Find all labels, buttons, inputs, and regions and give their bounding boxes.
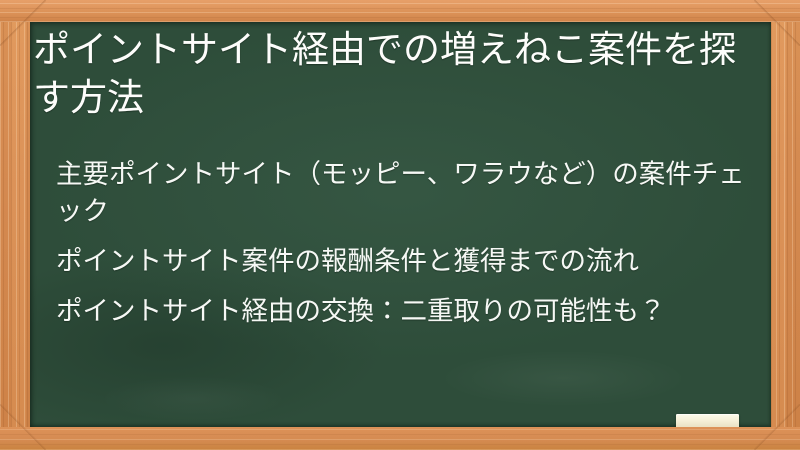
slide-title: ポイントサイト経由での増えねこ案件を探す方法 (33, 26, 749, 122)
frame-rail-bottom (0, 427, 800, 450)
frame-rail-top (0, 0, 800, 22)
list-item: 主要ポイントサイト（モッピー、ワラウなど）の案件チェック (56, 156, 746, 230)
list-item: ポイントサイト案件の報酬条件と獲得までの流れ (56, 243, 746, 280)
slide-content: ポイントサイト経由での増えねこ案件を探す方法 主要ポイントサイト（モッピー、ワラ… (30, 22, 771, 427)
chalkboard-slide: ポイントサイト経由での増えねこ案件を探す方法 主要ポイントサイト（モッピー、ワラ… (0, 0, 800, 450)
list-item: ポイントサイト経由の交換：二重取りの可能性も？ (56, 293, 746, 330)
topic-list: 主要ポイントサイト（モッピー、ワラウなど）の案件チェック ポイントサイト案件の報… (56, 156, 746, 330)
blackboard-surface: ポイントサイト経由での増えねこ案件を探す方法 主要ポイントサイト（モッピー、ワラ… (30, 22, 771, 427)
chalk-stick-icon (676, 414, 739, 427)
